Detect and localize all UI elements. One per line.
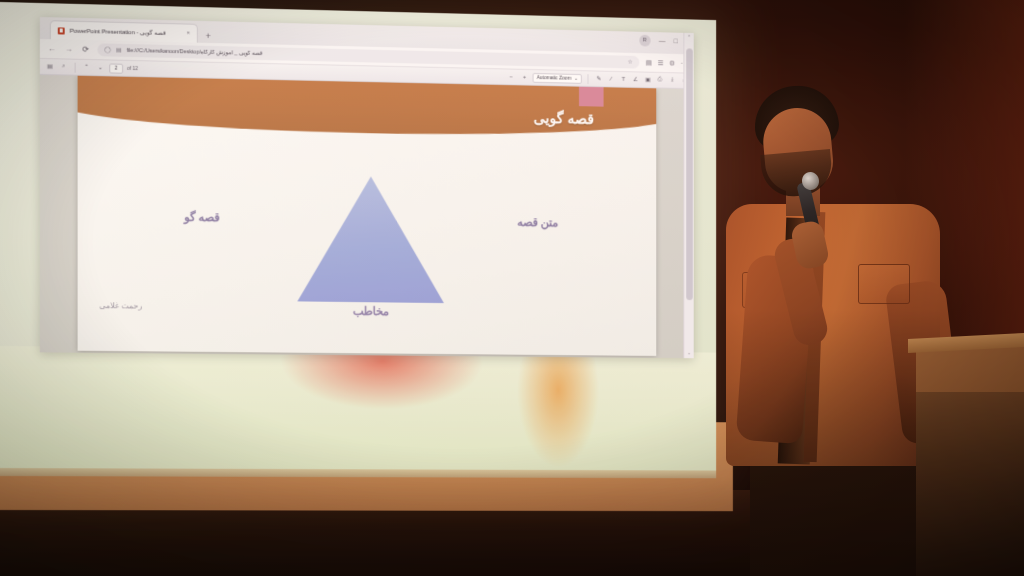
vertical-scrollbar[interactable]: ⌃ ⌄	[683, 33, 693, 358]
screen-surface: PowerPoint Presentation - قصه گویی × + R…	[0, 2, 716, 472]
scrollbar-thumb[interactable]	[686, 48, 693, 300]
scroll-down-arrow[interactable]: ⌄	[684, 348, 693, 358]
profile-avatar[interactable]: R	[639, 35, 650, 47]
navbar-right-icons: ▤ ☰ ⚙ ⋯	[646, 59, 687, 68]
page-count-label: of 12	[127, 65, 138, 71]
search-icon[interactable]: ⌕	[59, 61, 69, 72]
toolbar-spacer	[142, 69, 503, 77]
back-button[interactable]: ←	[47, 44, 57, 53]
favorites-icon[interactable]: ☰	[658, 59, 664, 67]
window-controls: R — □ ×	[639, 35, 690, 48]
triangle-label-storyteller: قصه گو	[184, 210, 220, 224]
forward-button[interactable]: →	[64, 44, 74, 53]
page-number-input[interactable]: 2	[109, 63, 123, 73]
triangle-label-story-text: متن قصه	[517, 215, 558, 229]
new-tab-button[interactable]: +	[202, 31, 215, 43]
annotation-tools: ✎ ∕ T ∠ ▣ ⎙ ⤓ »	[594, 73, 689, 86]
presenter-legs	[750, 454, 920, 576]
bookmark-star-icon[interactable]: ☆	[628, 59, 633, 66]
toolbar-divider-2	[588, 74, 589, 84]
pdf-viewer[interactable]: قصه گویی متن قصه قصه گو مخاطب رحمت غلامی…	[40, 75, 694, 358]
slide-banner-content: قصه گویی	[78, 76, 657, 153]
browser-window[interactable]: PowerPoint Presentation - قصه گویی × + R…	[40, 17, 694, 358]
torso-shading	[726, 204, 940, 466]
document-icon: ▤	[116, 47, 122, 54]
settings-icon[interactable]: ⚙	[669, 59, 675, 67]
collections-icon[interactable]: ▤	[646, 59, 652, 67]
projection-screen: PowerPoint Presentation - قصه گویی × + R…	[0, 0, 733, 502]
highlight-icon[interactable]: ∕	[606, 74, 615, 85]
save-icon[interactable]: ⤓	[667, 75, 676, 86]
triangle-label-audience: مخاطب	[353, 304, 389, 318]
slide-page-2: قصه گویی متن قصه قصه گو مخاطب رحمت غلامی	[78, 76, 657, 356]
next-page-button[interactable]: ⌄	[95, 62, 105, 73]
zoom-in-button[interactable]: +	[520, 72, 530, 83]
zoom-select[interactable]: Automatic Zoom ⌄	[533, 73, 582, 84]
image-icon[interactable]: ▣	[643, 75, 652, 86]
previous-page-button[interactable]: ⌃	[82, 62, 92, 73]
zoom-out-button[interactable]: −	[506, 71, 516, 82]
browser-tab[interactable]: PowerPoint Presentation - قصه گویی ×	[50, 20, 198, 42]
toolbar-divider	[75, 62, 76, 72]
minimize-button[interactable]: —	[659, 38, 666, 45]
draw-icon[interactable]: ✎	[594, 73, 603, 84]
slide-title: قصه گویی	[534, 109, 595, 128]
triangle-shape	[297, 175, 444, 303]
projector-light-spill	[0, 346, 716, 474]
print-icon[interactable]: ⎙	[655, 75, 664, 86]
tab-title: PowerPoint Presentation - قصه گویی	[70, 27, 182, 37]
text-icon[interactable]: T	[619, 74, 628, 85]
photograph-scene: PowerPoint Presentation - قصه گویی × + R…	[0, 0, 1024, 576]
pdf-favicon	[58, 27, 65, 34]
maximize-button[interactable]: □	[674, 38, 678, 45]
podium-shading	[916, 392, 1024, 576]
scroll-up-arrow[interactable]: ⌃	[684, 33, 693, 43]
chevron-down-icon: ⌄	[574, 75, 578, 81]
signature-icon[interactable]: ∠	[631, 74, 640, 85]
sidebar-icon[interactable]: ▤	[45, 61, 55, 72]
author-signature: رحمت غلامی	[99, 301, 142, 310]
zoom-value: Automatic Zoom	[537, 75, 571, 82]
shield-icon: ◯	[104, 46, 111, 53]
reload-button[interactable]: ⟳	[81, 45, 91, 54]
close-icon[interactable]: ×	[187, 31, 190, 37]
